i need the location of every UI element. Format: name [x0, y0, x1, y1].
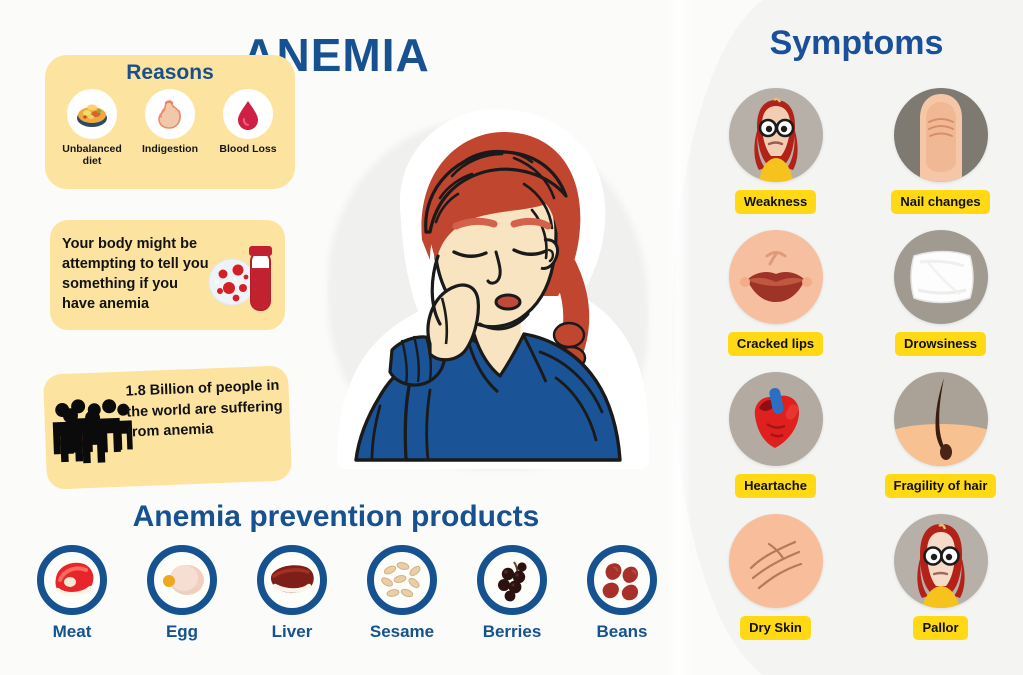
info-box-statistic: 1.8 Billion of people in the world are s…	[43, 365, 292, 489]
symptom-item-heartache[interactable]: Heartache	[700, 372, 851, 498]
product-label: Berries	[462, 622, 562, 642]
anemia-infographic: ANEMIA Reasons Unbalance	[0, 0, 1023, 675]
reason-label: Indigestion	[132, 143, 208, 155]
symptom-label: Dry Skin	[740, 616, 811, 640]
bowl-of-food-icon	[67, 89, 117, 139]
human-heart-icon	[729, 372, 823, 466]
product-label: Sesame	[352, 622, 452, 642]
reason-item-indigestion: Indigestion	[132, 89, 208, 167]
reason-label: Blood Loss	[210, 143, 286, 155]
product-item-egg[interactable]: Egg	[132, 545, 232, 642]
reason-item-blood-loss: Blood Loss	[210, 89, 286, 167]
dry-skin-texture-icon	[729, 514, 823, 608]
beans-icon	[587, 545, 657, 615]
symptom-item-fragility-of-hair[interactable]: Fragility of hair	[865, 372, 1016, 498]
symptom-item-cracked-lips[interactable]: Cracked lips	[700, 230, 851, 356]
symptoms-heading: Symptoms	[690, 24, 1023, 63]
symptom-label: Pallor	[913, 616, 967, 640]
tired-woman-resting-head-on-hand-illustration	[318, 100, 658, 480]
symptoms-grid: Weakness Nail changes	[700, 88, 1016, 640]
info-box-text: 1.8 Billion of people in the world are s…	[125, 376, 285, 444]
product-label: Meat	[22, 622, 122, 642]
product-item-sesame[interactable]: Sesame	[352, 545, 452, 642]
product-item-liver[interactable]: Liver	[242, 545, 342, 642]
symptom-label: Weakness	[735, 190, 816, 214]
symptom-label: Cracked lips	[728, 332, 823, 356]
prevention-products-list: Meat Egg Liver	[22, 545, 672, 642]
blood-sample-test-tube-icon	[205, 238, 279, 321]
symptom-item-drowsiness[interactable]: Drowsiness	[865, 230, 1016, 356]
product-label: Beans	[572, 622, 672, 642]
symptom-label: Drowsiness	[895, 332, 986, 356]
pale-woman-face-icon	[894, 514, 988, 608]
product-label: Egg	[132, 622, 232, 642]
reason-label: Unbalanced diet	[54, 143, 130, 167]
reasons-heading: Reasons	[45, 55, 295, 85]
product-item-meat[interactable]: Meat	[22, 545, 122, 642]
product-item-berries[interactable]: Berries	[462, 545, 562, 642]
reasons-list: Unbalanced diet Indigestion	[45, 85, 295, 167]
stomach-icon	[145, 89, 195, 139]
symptom-label: Nail changes	[891, 190, 989, 214]
symptom-label: Heartache	[735, 474, 816, 498]
info-box-body-message: Your body might be attempting to tell yo…	[50, 220, 285, 330]
prevention-heading: Anemia prevention products	[0, 500, 672, 534]
fried-egg-icon	[147, 545, 217, 615]
product-item-beans[interactable]: Beans	[572, 545, 672, 642]
symptom-label: Fragility of hair	[885, 474, 997, 498]
blood-drop-icon	[223, 89, 273, 139]
product-label: Liver	[242, 622, 342, 642]
symptom-item-pallor[interactable]: Pallor	[865, 514, 1016, 640]
symptom-item-weakness[interactable]: Weakness	[700, 88, 851, 214]
sesame-seeds-icon	[367, 545, 437, 615]
pillow-icon	[894, 230, 988, 324]
fingernail-icon	[894, 88, 988, 182]
hair-strand-follicle-icon	[894, 372, 988, 466]
tired-woman-face-icon	[729, 88, 823, 182]
berries-icon	[477, 545, 547, 615]
reasons-card: Reasons Unbalanced diet	[45, 55, 295, 189]
liver-icon	[257, 545, 327, 615]
crowd-of-people-icon	[48, 393, 135, 473]
cracked-lips-mouth-icon	[729, 230, 823, 324]
reason-item-unbalanced-diet: Unbalanced diet	[54, 89, 130, 167]
cut-of-meat-icon	[37, 545, 107, 615]
info-box-text: Your body might be attempting to tell yo…	[62, 234, 212, 314]
symptom-item-dry-skin[interactable]: Dry Skin	[700, 514, 851, 640]
symptom-item-nail-changes[interactable]: Nail changes	[865, 88, 1016, 214]
